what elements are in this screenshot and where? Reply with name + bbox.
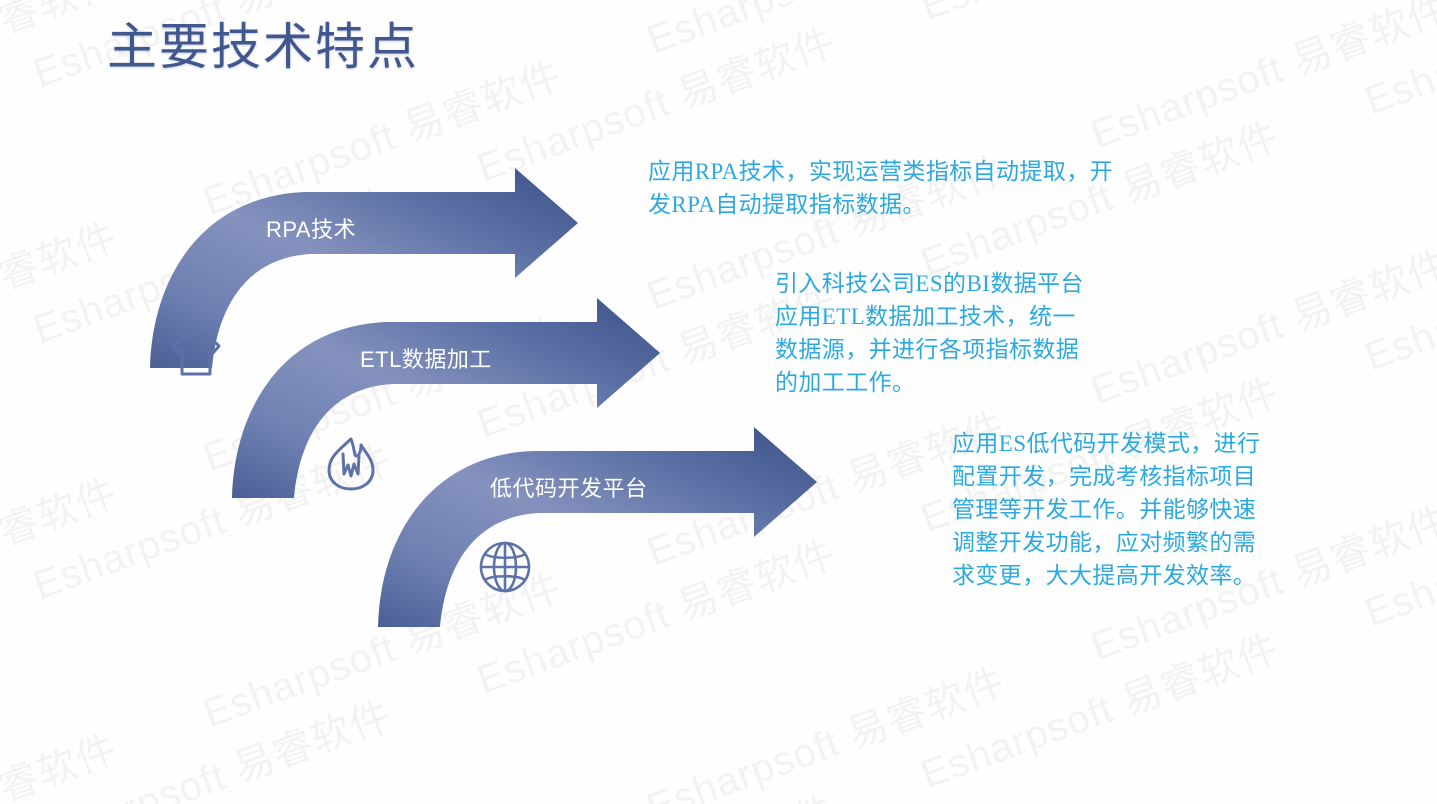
flame-icon [325,436,377,492]
arrow-label-2: ETL数据加工 [360,342,492,374]
arrow-label-3: 低代码开发平台 [490,471,648,503]
description-text-3: 应用ES低代码开发模式，进行 配置开发，完成考核指标项目 管理等开发工作。并能够… [952,427,1332,592]
description-text-2: 引入科技公司ES的BI数据平台 应用ETL数据加工技术，统一 数据源，并进行各项… [775,267,1205,399]
description-text-1: 应用RPA技术，实现运营类指标自动提取，开 发RPA自动提取指标数据。 [648,155,1228,221]
slide-canvas: Esharpsoft 易睿软件Esharpsoft 易睿软件Esharpsoft… [0,0,1437,804]
arrow-shape-3 [358,437,828,637]
arrow-label-1: RPA技术 [266,212,356,244]
globe-icon [478,540,532,594]
tshirt-icon [168,327,224,383]
page-title: 主要技术特点 [107,16,419,78]
